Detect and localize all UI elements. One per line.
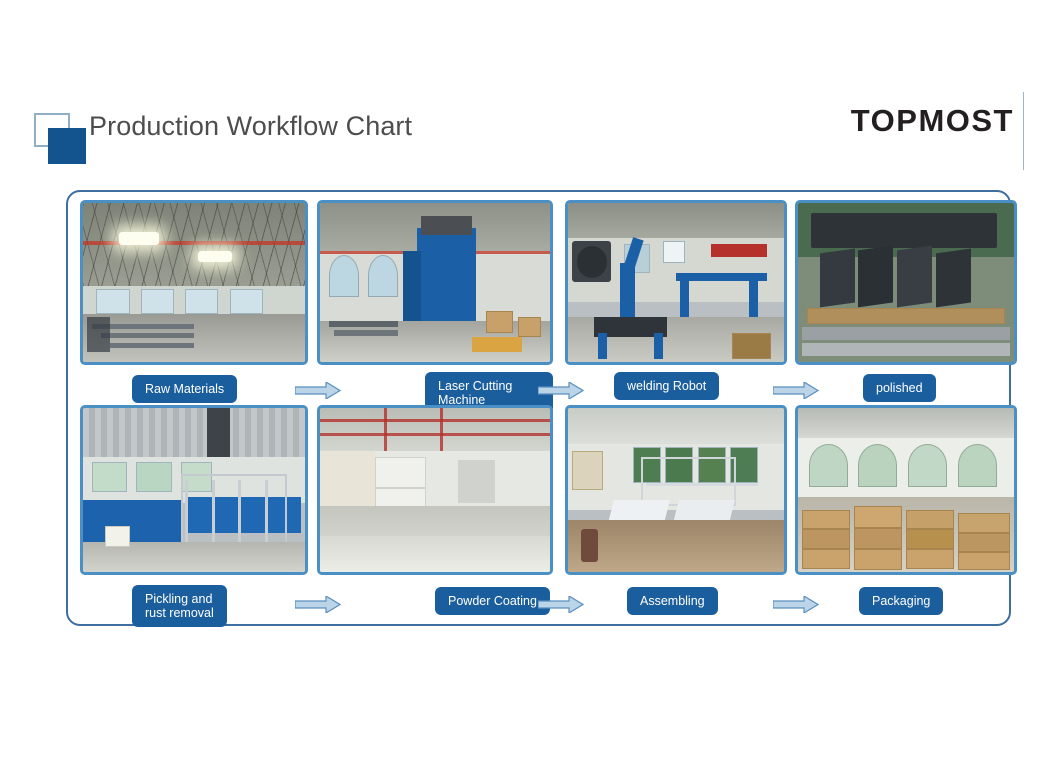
workflow-row-1: Raw Materials — [68, 200, 1013, 405]
step-label-raw-materials: Raw Materials — [132, 375, 237, 403]
arrow-icon-2 — [538, 382, 584, 399]
photo-pickling-rust-removal-tanks — [80, 405, 308, 575]
step-label-polished: polished — [863, 374, 936, 402]
workflow-step-welding-robot[interactable]: welding Robot — [565, 200, 787, 365]
photo-assembly-workshop — [565, 405, 787, 575]
brand-logo-text: TOPMOST — [851, 103, 1014, 139]
arrow-icon-3 — [773, 382, 819, 399]
step-label-pickling: Pickling and rust removal — [132, 585, 227, 627]
photo-packaging-warehouse — [795, 405, 1017, 575]
step-label-assembling: Assembling — [627, 587, 718, 615]
arrow-icon-5 — [538, 596, 584, 613]
workflow-row-2: Pickling and rust removal — [68, 405, 1013, 620]
workflow-step-polished[interactable]: polished — [795, 200, 1017, 365]
workflow-container: Raw Materials — [66, 190, 1011, 626]
workflow-step-assembling[interactable]: Assembling — [565, 405, 787, 575]
photo-laser-cutting-machine — [317, 200, 553, 365]
step-label-powder-coating: Powder Coating — [435, 587, 550, 615]
page-title: Production Workflow Chart — [89, 111, 412, 142]
arrow-icon-4 — [295, 596, 341, 613]
workflow-step-pickling[interactable]: Pickling and rust removal — [80, 405, 308, 575]
photo-welding-robot-cell — [565, 200, 787, 365]
arrow-icon-6 — [773, 596, 819, 613]
step-label-welding-robot: welding Robot — [614, 372, 719, 400]
photo-factory-warehouse-interior — [80, 200, 308, 365]
logo-square-filled — [48, 128, 86, 164]
arrow-icon-1 — [295, 382, 341, 399]
workflow-step-powder-coating[interactable]: Powder Coating — [317, 405, 553, 575]
workflow-step-raw-materials[interactable]: Raw Materials — [80, 200, 308, 365]
photo-polished-metal-parts — [795, 200, 1017, 365]
step-label-packaging: Packaging — [859, 587, 943, 615]
logo-icon — [34, 113, 90, 163]
brand-divider — [1023, 92, 1024, 170]
workflow-step-laser-cutting[interactable]: Laser Cutting Machine — [317, 200, 553, 365]
photo-powder-coating-line — [317, 405, 553, 575]
workflow-step-packaging[interactable]: Packaging — [795, 405, 1017, 575]
